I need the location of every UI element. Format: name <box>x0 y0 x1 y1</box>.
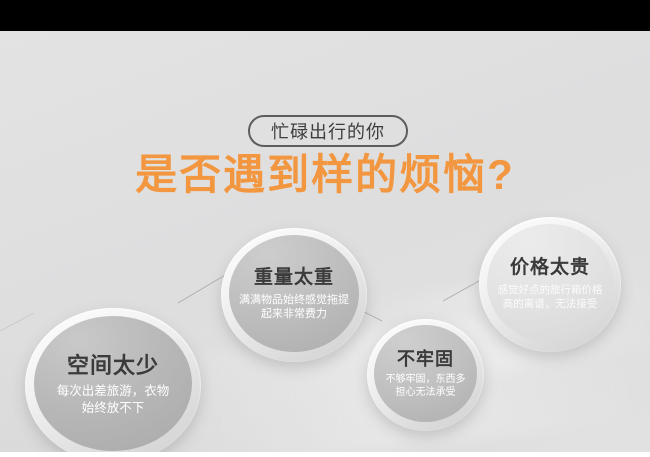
badge-label: 忙碌出行的你 <box>271 118 385 144</box>
badge-pill: 忙碌出行的你 <box>248 115 408 147</box>
bubble-title: 重量太重 <box>231 268 357 288</box>
bubble-desc-line1: 不够牢固，东西多 <box>375 373 476 387</box>
bubble-text: 价格太贵 感觉好点的旅行箱价格 高的离谱，无法接受 <box>489 258 611 311</box>
pain-point-bubble-weight[interactable]: 重量太重 满满物品始终感觉拖提 起来非常费力 <box>221 228 367 362</box>
bubble-title: 空间太少 <box>37 354 188 377</box>
bubble-title: 价格太贵 <box>489 258 611 278</box>
bubble-desc-line2: 始终放不下 <box>37 400 188 417</box>
bubble-desc-line1: 每次出差旅游，衣物 <box>37 383 188 400</box>
connector-b1-edge-left <box>0 313 34 331</box>
bubble-text: 空间太少 每次出差旅游，衣物 始终放不下 <box>37 354 188 417</box>
pain-point-bubble-sturdiness[interactable]: 不牢固 不够牢固，东西多 担心无法承受 <box>367 319 484 431</box>
content-panel: 忙碌出行的你 是否遇到样的烦恼? 空间太少 每次出差旅游，衣物 始终放不下 重量… <box>0 31 650 452</box>
top-black-bar <box>0 0 650 31</box>
bubble-desc-line2: 起来非常费力 <box>231 307 357 322</box>
page-title: 是否遇到样的烦恼? <box>0 154 650 196</box>
bubble-desc-line1: 满满物品始终感觉拖提 <box>231 293 357 308</box>
bubble-desc-line2: 高的离谱，无法接受 <box>489 297 611 311</box>
bubble-text: 重量太重 满满物品始终感觉拖提 起来非常费力 <box>231 268 357 323</box>
bottom-white-strip <box>0 452 650 457</box>
pain-point-bubble-price[interactable]: 价格太贵 感觉好点的旅行箱价格 高的离谱，无法接受 <box>479 217 621 352</box>
bubble-desc-line1: 感觉好点的旅行箱价格 <box>489 283 611 297</box>
promo-banner: 忙碌出行的你 是否遇到样的烦恼? 空间太少 每次出差旅游，衣物 始终放不下 重量… <box>0 0 650 457</box>
bubble-text: 不牢固 不够牢固，东西多 担心无法承受 <box>375 350 476 400</box>
pain-point-bubble-space[interactable]: 空间太少 每次出差旅游，衣物 始终放不下 <box>25 308 201 452</box>
bubble-desc-line2: 担心无法承受 <box>375 386 476 400</box>
bubble-title: 不牢固 <box>375 350 476 369</box>
